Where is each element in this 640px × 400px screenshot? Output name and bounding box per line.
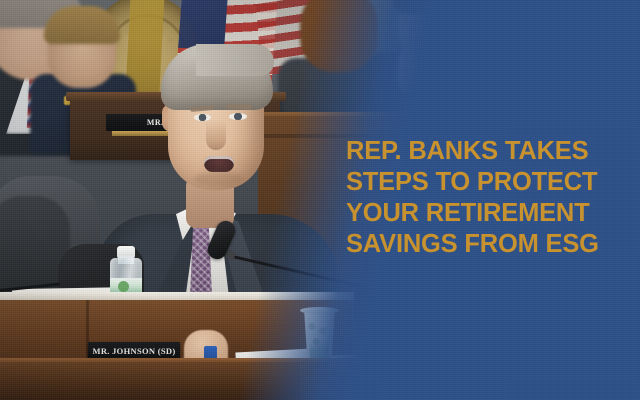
promo-graphic: MR. WITTM — [0, 0, 640, 400]
subject-nose — [206, 120, 226, 150]
subject-chin-shadow — [194, 172, 244, 186]
headline-line-1: REP. BANKS TAKES — [346, 136, 632, 167]
background-person-hand — [398, 44, 434, 98]
water-bottle-label-mark — [118, 281, 129, 292]
headline-line-4: SAVINGS FROM ESG — [346, 229, 632, 260]
subject-mouth — [204, 156, 234, 172]
headline: REP. BANKS TAKES STEPS TO PROTECT YOUR R… — [346, 136, 632, 260]
desk-base — [0, 362, 370, 400]
paper-cup-rim — [300, 307, 339, 314]
subject-hair-sweep — [196, 44, 274, 76]
nameplate-johnson: MR. JOHNSON (SD) — [88, 342, 180, 359]
subject-eye-right — [229, 113, 247, 120]
headline-line-3: YOUR RETIREMENT — [346, 198, 632, 229]
headline-line-2: STEPS TO PROTECT — [346, 167, 632, 198]
paper-cup-pattern — [306, 318, 333, 360]
background-person-hair — [300, 0, 378, 72]
nameplate-johnson-label: MR. JOHNSON (SD) — [93, 346, 176, 356]
flag-canton — [178, 0, 228, 48]
background-person-hair — [394, 0, 476, 14]
background-person-hair — [44, 6, 120, 44]
